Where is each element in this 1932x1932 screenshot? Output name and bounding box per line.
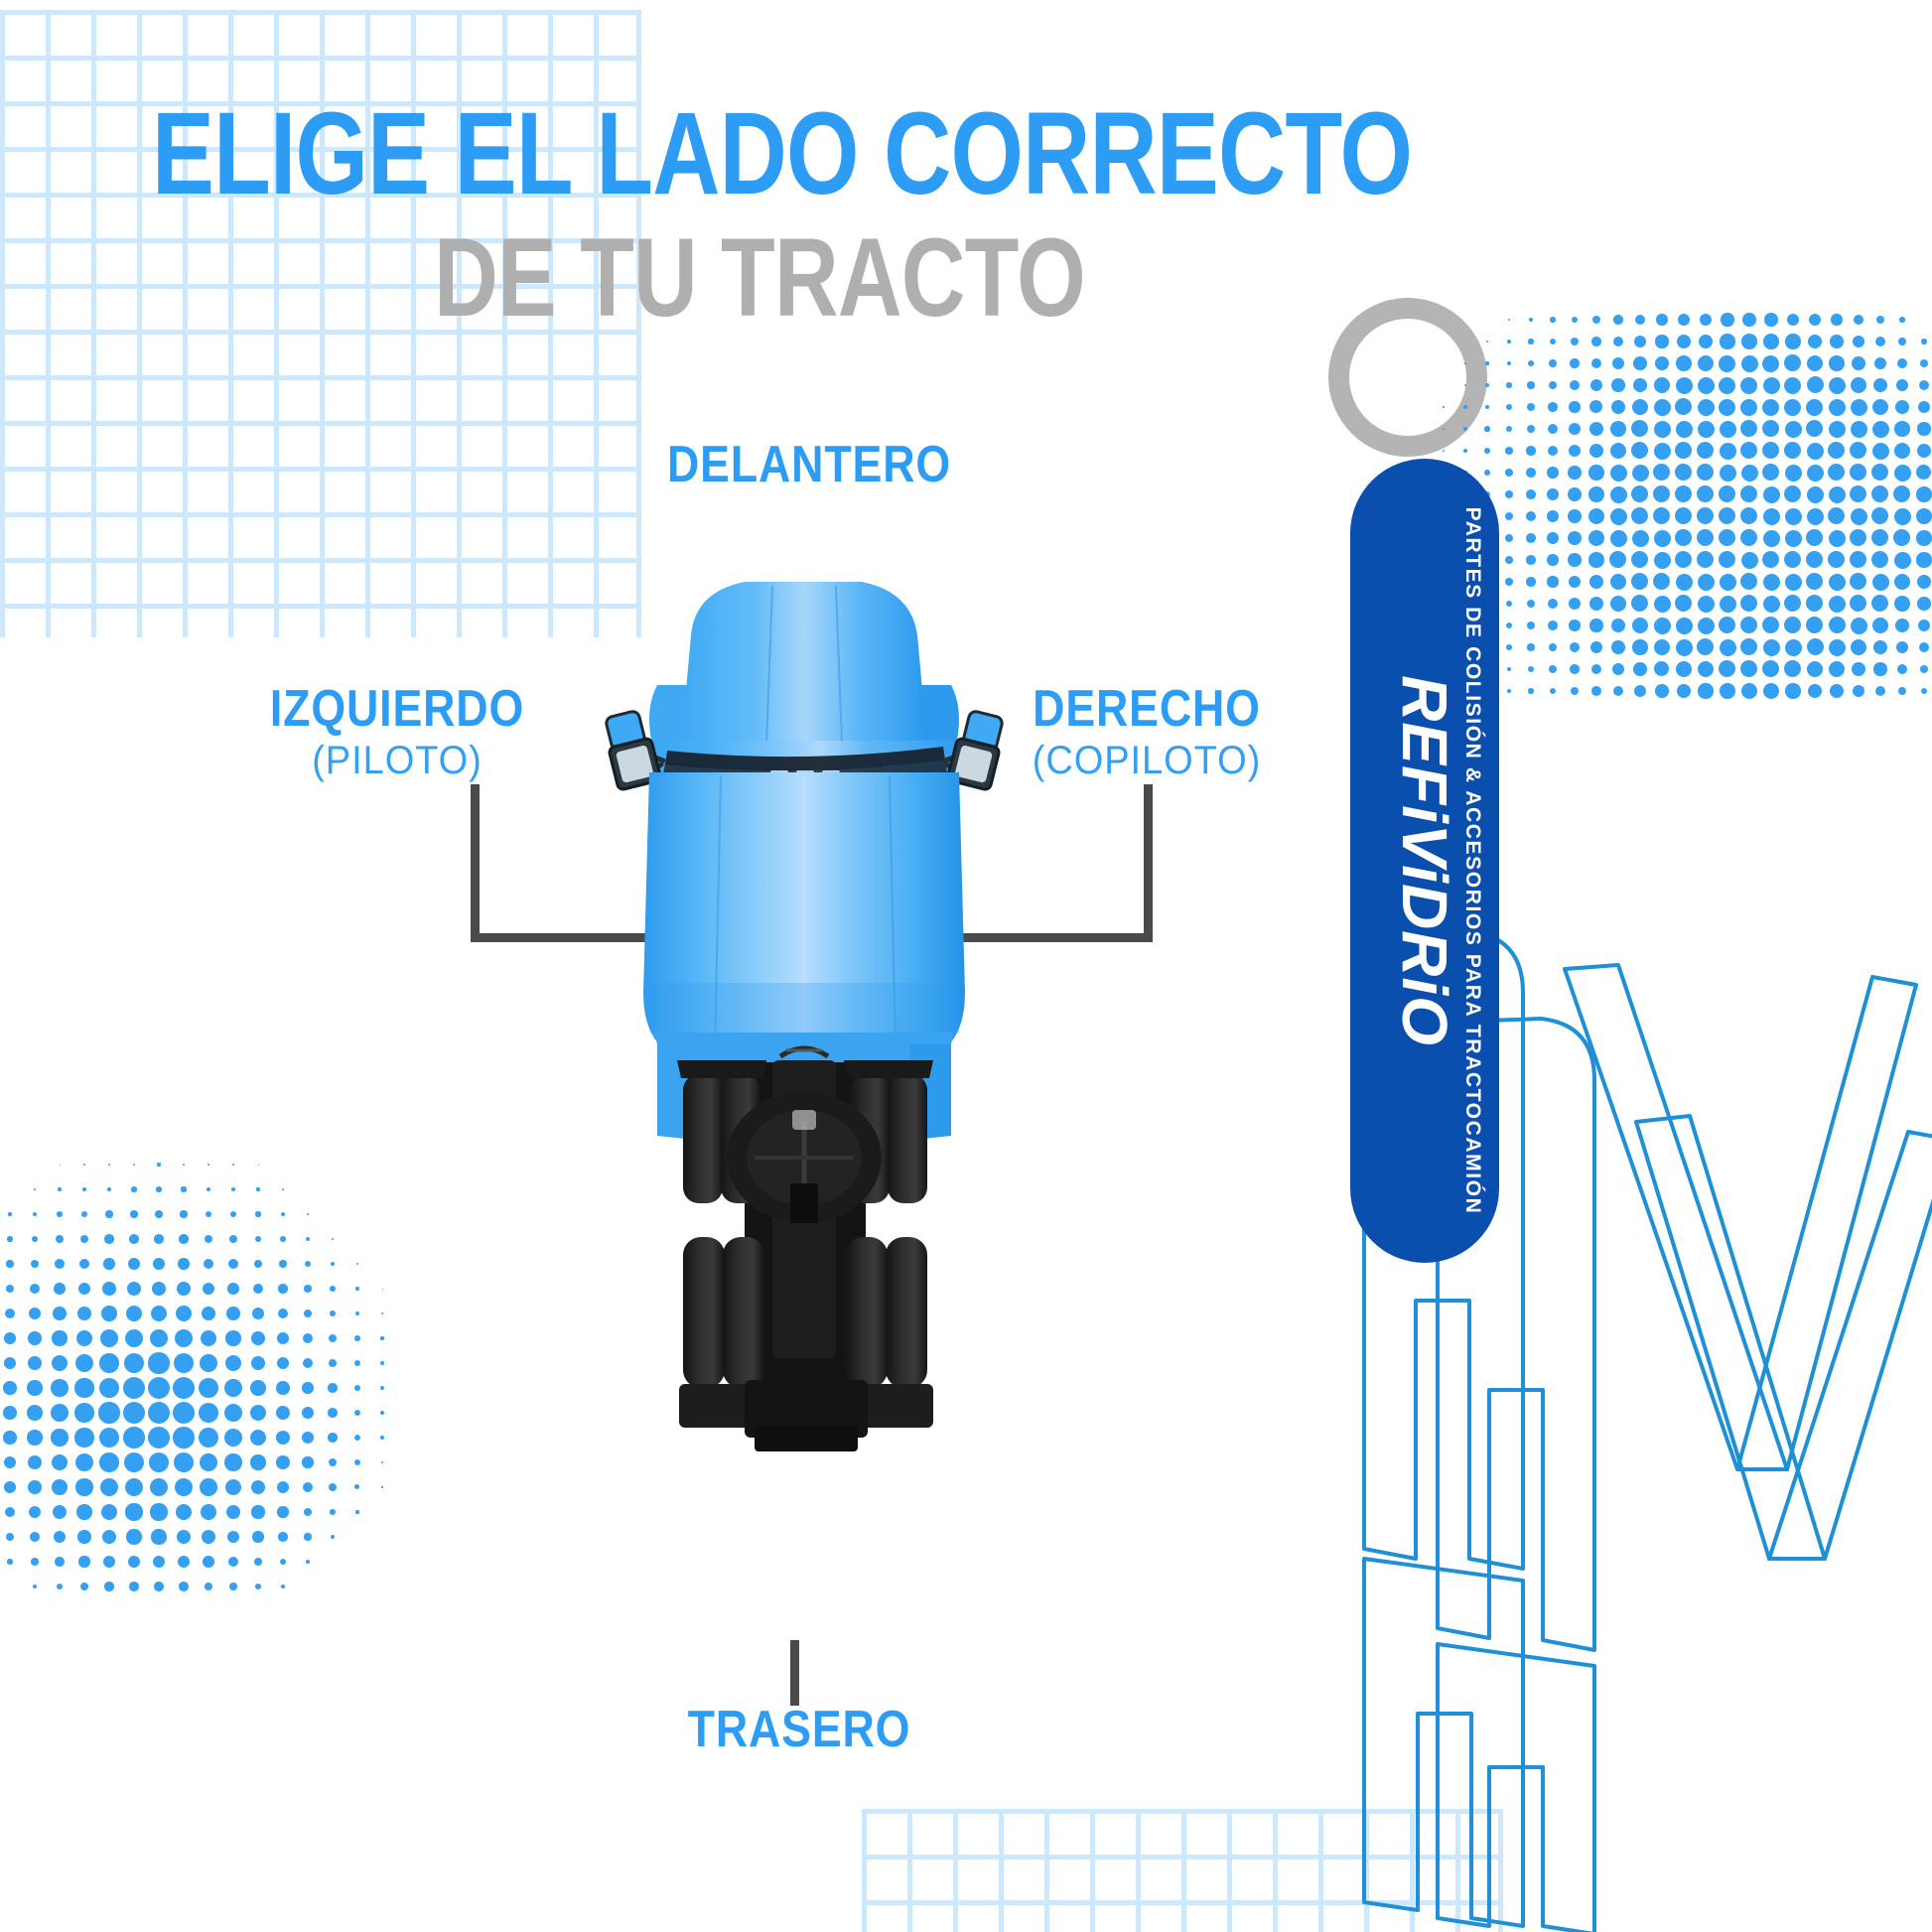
- halftone-dot: [1719, 355, 1735, 372]
- halftone-dot: [1921, 688, 1927, 694]
- halftone-dot: [1655, 356, 1670, 371]
- halftone-dot: [1918, 620, 1930, 631]
- halftone-dot: [34, 1188, 36, 1190]
- halftone-dot: [328, 1408, 337, 1417]
- halftone-dot: [1806, 617, 1823, 633]
- halftone-dot: [1589, 422, 1603, 436]
- halftone-dot: [1572, 317, 1579, 324]
- halftone-dot: [177, 1530, 192, 1545]
- halftone-dot: [51, 1429, 68, 1446]
- halftone-dot: [380, 1386, 384, 1390]
- halftone-dot: [306, 1560, 311, 1565]
- grid-line-horizontal: [0, 56, 641, 61]
- halftone-dot: [104, 1234, 113, 1243]
- halftone-dot: [53, 1505, 67, 1519]
- halftone-dot: [251, 1480, 265, 1494]
- halftone-dot: [207, 1187, 211, 1192]
- halftone-dot: [1526, 511, 1536, 521]
- halftone-dot: [1676, 574, 1693, 591]
- halftone-dot: [1632, 618, 1649, 634]
- halftone-dot: [1872, 574, 1889, 591]
- halftone-dot: [1633, 378, 1648, 393]
- halftone-dot: [1484, 470, 1490, 476]
- halftone-dot: [108, 1164, 111, 1167]
- halftone-dot: [100, 1478, 118, 1496]
- halftone-dot: [126, 1306, 142, 1321]
- halftone-dot: [129, 1582, 139, 1591]
- halftone-dot: [1806, 573, 1823, 590]
- halftone-dot: [1829, 530, 1846, 547]
- halftone-dot: [1505, 469, 1513, 477]
- halftone-dot: [176, 1504, 193, 1521]
- halftone-dot: [1916, 530, 1932, 546]
- halftone-dot: [1894, 596, 1910, 612]
- halftone-dot: [1917, 422, 1930, 435]
- halftone-dot: [1548, 621, 1558, 630]
- halftone-dot: [124, 1353, 145, 1374]
- halftone-dot: [1828, 442, 1845, 459]
- halftone-dot: [1547, 488, 1559, 500]
- halftone-dot: [1507, 689, 1511, 693]
- halftone-dot: [1591, 337, 1600, 345]
- halftone-dot: [1719, 377, 1735, 394]
- halftone-dot: [1850, 464, 1866, 481]
- halftone-dot: [1610, 596, 1626, 612]
- halftone-dot: [1920, 665, 1928, 673]
- halftone-dot: [1609, 551, 1626, 568]
- halftone-dot: [178, 1258, 189, 1269]
- halftone-dot: [1918, 401, 1930, 413]
- halftone-dot: [250, 1405, 266, 1421]
- halftone-dot: [1785, 465, 1802, 482]
- halftone-dot: [1569, 401, 1580, 412]
- halftone-dot: [1850, 551, 1866, 568]
- halftone-dot: [1676, 377, 1693, 394]
- halftone-dot: [254, 1558, 263, 1567]
- halftone-dot: [1588, 552, 1603, 567]
- halftone-dot: [174, 1353, 194, 1373]
- halftone-dot: [1740, 485, 1757, 502]
- halftone-dot: [1592, 316, 1600, 324]
- halftone-dot: [1676, 661, 1692, 677]
- halftone-dot: [1871, 507, 1888, 524]
- halftone-dot: [1632, 399, 1648, 415]
- halftone-dot: [1698, 377, 1715, 394]
- halftone-dot: [80, 1235, 89, 1244]
- halftone-dot: [1631, 420, 1648, 437]
- label-front: DELANTERO: [664, 435, 954, 494]
- halftone-dot: [1547, 510, 1559, 522]
- halftone-dot: [99, 1452, 119, 1472]
- halftone-dot: [1763, 639, 1780, 656]
- halftone-dot: [1653, 507, 1670, 524]
- halftone-dot: [173, 1427, 194, 1448]
- halftone-dot: [1851, 639, 1866, 655]
- halftone-dot: [1894, 552, 1911, 569]
- halftone-dot: [1894, 508, 1911, 525]
- halftone-dot: [1568, 466, 1581, 479]
- grid-line-horizontal: [0, 558, 641, 563]
- halftone-dot: [1675, 485, 1692, 502]
- halftone-dot: [173, 1402, 195, 1424]
- halftone-dot: [1675, 551, 1692, 568]
- halftone-dot: [1871, 485, 1888, 502]
- halftone-dot: [1806, 595, 1823, 612]
- halftone-dot: [332, 1238, 335, 1241]
- halftone-dot: [280, 1236, 286, 1242]
- halftone-dot: [1612, 663, 1624, 675]
- halftone-dot: [1871, 464, 1888, 481]
- halftone-dot: [175, 1478, 194, 1497]
- halftone-dot: [6, 1285, 15, 1294]
- halftone-dot: [151, 1306, 167, 1321]
- halftone-dot: [32, 1236, 39, 1243]
- grid-line-vertical: [953, 1809, 958, 1932]
- halftone-dot: [1505, 534, 1513, 542]
- halftone-dot: [328, 1433, 337, 1442]
- halftone-dot: [1655, 684, 1668, 697]
- halftone-dot: [74, 1428, 93, 1447]
- halftone-dot: [1807, 638, 1824, 655]
- halftone-dot: [1591, 358, 1602, 369]
- halftone-dot: [253, 1284, 264, 1295]
- halftone-dot: [1528, 339, 1533, 344]
- halftone-dot: [183, 1164, 186, 1167]
- halftone-dot: [176, 1306, 192, 1321]
- halftone-dot: [1612, 357, 1624, 369]
- halftone-dot: [154, 1234, 164, 1244]
- halftone-dot: [1762, 399, 1779, 416]
- halftone-dot: [354, 1484, 359, 1489]
- halftone-dot: [151, 1529, 166, 1544]
- halftone-dot: [1785, 574, 1802, 591]
- halftone-dot: [303, 1482, 313, 1492]
- halftone-dot: [1720, 596, 1736, 613]
- halftone-dot: [152, 1282, 166, 1296]
- halftone-dot: [1443, 450, 1445, 452]
- halftone-dot: [1611, 619, 1626, 633]
- halftone-dot: [224, 1404, 242, 1422]
- halftone-dot: [1526, 468, 1536, 478]
- halftone-dot: [101, 1504, 118, 1521]
- halftone-dot: [1591, 664, 1602, 675]
- halftone-dot: [1899, 317, 1905, 323]
- halftone-dot: [6, 1260, 13, 1267]
- halftone-dot: [1568, 553, 1581, 566]
- halftone-dot: [77, 1530, 91, 1544]
- halftone-dot: [1741, 465, 1758, 482]
- halftone-dot: [1872, 421, 1889, 438]
- halftone-dot: [28, 1480, 42, 1494]
- halftone-dot: [1547, 467, 1558, 478]
- halftone-dot: [201, 1504, 216, 1520]
- halftone-dot: [355, 1287, 359, 1291]
- halftone-dot: [1485, 361, 1488, 364]
- halftone-dot: [1631, 507, 1648, 524]
- halftone-dot: [1806, 399, 1823, 416]
- halftone-dot: [5, 1507, 15, 1517]
- halftone-dot: [330, 1286, 336, 1292]
- halftone-dot: [354, 1410, 361, 1417]
- halftone-dot: [175, 1329, 193, 1347]
- halftone-dot: [99, 1353, 119, 1373]
- halftone-dot: [1631, 595, 1648, 612]
- halftone-dot: [355, 1510, 358, 1513]
- halftone-dot: [1656, 314, 1667, 325]
- halftone-dot: [1719, 399, 1735, 416]
- halftone-dot: [255, 1584, 261, 1589]
- halftone-dot: [1785, 421, 1802, 438]
- halftone-dot: [305, 1261, 311, 1267]
- halftone-dot: [1610, 508, 1627, 525]
- halftone-dot: [1484, 448, 1490, 454]
- halftone-dot: [278, 1532, 287, 1541]
- halftone-dot: [258, 1165, 259, 1166]
- halftone-dot: [1809, 314, 1821, 326]
- halftone-dot: [1570, 642, 1581, 653]
- halftone-dot: [1464, 362, 1465, 363]
- halftone-dot: [381, 1312, 383, 1314]
- halftone-dot: [1784, 551, 1801, 568]
- halftone-dot: [302, 1407, 314, 1419]
- halftone-dot: [203, 1556, 214, 1568]
- halftone-dot: [1632, 465, 1649, 482]
- halftone-dot: [1872, 618, 1888, 633]
- halftone-dot: [5, 1309, 15, 1318]
- halftone-dot: [1632, 530, 1649, 547]
- halftone-dot: [1741, 552, 1758, 569]
- halftone-dot: [1698, 661, 1715, 678]
- halftone-dot: [1484, 426, 1489, 431]
- halftone-dot: [125, 1478, 144, 1497]
- halftone-dot: [1720, 683, 1735, 699]
- halftone-dot: [1611, 378, 1624, 391]
- halftone-dot: [1700, 314, 1713, 327]
- halftone-dot: [1784, 595, 1801, 612]
- halftone-dot: [1633, 662, 1647, 676]
- halftone-dot: [79, 1259, 90, 1270]
- halftone-dot: [1740, 420, 1757, 437]
- halftone-dot: [228, 1259, 238, 1269]
- halftone-dot: [250, 1454, 265, 1469]
- halftone-dot: [1875, 686, 1886, 697]
- halftone-dot: [1610, 465, 1627, 482]
- halftone-dot: [1785, 508, 1802, 525]
- halftone-dot: [1893, 529, 1910, 546]
- halftone-dot: [124, 1452, 144, 1472]
- halftone-dot: [53, 1307, 67, 1320]
- halftone-dot: [55, 1259, 65, 1269]
- halftone-dot: [178, 1556, 190, 1568]
- halftone-dot: [279, 1260, 286, 1267]
- page-title: ELIGE EL LADO CORRECTO: [152, 95, 1367, 212]
- halftone-dot: [33, 1585, 37, 1588]
- halftone-dot: [148, 1402, 170, 1424]
- halftone-dot: [1505, 556, 1513, 564]
- halftone-dot: [1527, 621, 1535, 629]
- halftone-dot: [1570, 380, 1580, 390]
- grid-line-horizontal: [0, 467, 641, 472]
- halftone-dot: [1829, 596, 1846, 613]
- halftone-dot: [1588, 508, 1604, 524]
- halftone-dot: [1828, 464, 1845, 481]
- halftone-dot: [75, 1354, 93, 1372]
- halftone-dot: [1632, 639, 1647, 654]
- halftone-dot: [1675, 529, 1692, 546]
- bracket-left-stem: [471, 784, 480, 941]
- halftone-dot: [1829, 355, 1845, 371]
- halftone-dot: [1569, 423, 1581, 435]
- halftone-dot: [4, 1481, 16, 1493]
- halftone-dot: [1720, 421, 1736, 438]
- halftone-dot: [1613, 337, 1624, 347]
- halftone-dot: [1610, 421, 1626, 437]
- halftone-dot: [107, 1187, 112, 1192]
- halftone-dot: [1675, 398, 1692, 415]
- grid-line-horizontal: [0, 604, 641, 609]
- halftone-dot: [1610, 530, 1627, 547]
- halftone-dot: [205, 1235, 213, 1244]
- halftone-dot: [1526, 489, 1536, 499]
- grid-line-vertical: [1273, 1809, 1278, 1932]
- halftone-dot: [150, 1329, 169, 1348]
- halftone-dot: [1631, 573, 1648, 590]
- halftone-dot: [1505, 490, 1513, 498]
- halftone-dot: [1762, 355, 1779, 372]
- halftone-dot: [1852, 356, 1865, 370]
- halftone-dot: [329, 1334, 337, 1342]
- halftone-dot: [105, 1210, 112, 1217]
- halftone-dot: [1610, 443, 1627, 460]
- halftone-dot: [1653, 573, 1670, 590]
- halftone-dot: [1874, 357, 1887, 370]
- halftone-dot: [1763, 334, 1778, 348]
- halftone-dot: [226, 1505, 241, 1520]
- halftone-dot: [304, 1533, 311, 1540]
- halftone-dot: [1719, 507, 1735, 524]
- halftone-dot: [1506, 404, 1512, 410]
- halftone-dot: [179, 1234, 188, 1243]
- halftone-dot: [1763, 683, 1779, 699]
- halftone-dot: [1719, 529, 1735, 546]
- halftone-dot: [1654, 377, 1670, 393]
- halftone-dot: [1697, 551, 1714, 568]
- halftone-dot: [1829, 617, 1846, 633]
- halftone-dot: [1784, 354, 1801, 371]
- halftone-dot: [1762, 551, 1779, 568]
- halftone-dot: [123, 1377, 145, 1399]
- halftone-dot: [1548, 402, 1558, 412]
- halftone-dot: [1921, 339, 1926, 344]
- halftone-dot: [27, 1380, 42, 1395]
- halftone-dot: [99, 1378, 120, 1399]
- halftone-dot: [4, 1456, 17, 1469]
- halftone-dot: [1588, 486, 1604, 502]
- halftone-dot: [1569, 620, 1580, 630]
- halftone-dot: [1873, 378, 1888, 393]
- brand-logo-badge[interactable]: REFiViDRiO PARTES DE COLISIÓN & ACCESORI…: [1350, 459, 1499, 1263]
- halftone-dot: [252, 1531, 263, 1542]
- halftone-dot: [1588, 465, 1603, 480]
- halftone-dot: [229, 1235, 237, 1243]
- halftone-dot: [202, 1530, 215, 1544]
- halftone-dot: [229, 1583, 237, 1590]
- halftone-dot: [1830, 684, 1844, 698]
- halftone-dot: [75, 1453, 93, 1471]
- halftone-dot: [1719, 617, 1735, 633]
- halftone-dot: [154, 1582, 164, 1591]
- halftone-dot: [1740, 660, 1757, 677]
- halftone-dot: [1699, 335, 1714, 349]
- halftone-dot: [1807, 443, 1824, 460]
- halftone-dot: [1698, 618, 1715, 634]
- halftone-dot: [1549, 665, 1557, 673]
- halftone-dot: [1675, 595, 1692, 612]
- halftone-dot: [1871, 551, 1888, 568]
- halftone-dot: [150, 1478, 169, 1497]
- halftone-dot: [251, 1331, 265, 1345]
- halftone-dot: [102, 1282, 116, 1296]
- halftone-dot: [1654, 530, 1671, 547]
- halftone-dot: [1850, 573, 1866, 590]
- halftone-dot: [1894, 443, 1911, 460]
- halftone-dot: [1850, 529, 1866, 546]
- halftone-dot: [354, 1459, 360, 1465]
- halftone-dot: [1807, 508, 1824, 525]
- halftone-dot: [1920, 359, 1928, 367]
- halftone-dot: [78, 1556, 89, 1567]
- halftone-dot: [56, 1235, 64, 1243]
- halftone-dot: [1808, 335, 1823, 349]
- halftone-dot: [1720, 334, 1734, 348]
- halftone-dot: [1720, 574, 1736, 591]
- halftone-dot: [1528, 360, 1534, 366]
- halftone-dot: [256, 1187, 259, 1190]
- halftone-dot: [1464, 384, 1466, 386]
- halftone-dot: [33, 1212, 38, 1217]
- halftone-dot: [1784, 442, 1801, 459]
- halftone-dot: [225, 1355, 242, 1372]
- halftone-dot: [1852, 662, 1866, 677]
- halftone-dot: [1740, 573, 1757, 590]
- halftone-dot: [199, 1428, 218, 1448]
- halftone-dot: [31, 1558, 39, 1566]
- halftone-dot: [380, 1411, 384, 1415]
- halftone-dot: [180, 1210, 187, 1217]
- halftone-dot: [1677, 684, 1691, 698]
- halftone-dot: [329, 1458, 338, 1467]
- halftone-dot: [1589, 619, 1602, 631]
- halftone-dot: [81, 1211, 88, 1218]
- halftone-dot: [304, 1508, 313, 1517]
- halftone-dot: [276, 1455, 289, 1468]
- halftone-dot: [1653, 464, 1670, 481]
- halftone-dot: [57, 1584, 63, 1589]
- halftone-dot: [1919, 642, 1929, 652]
- halftone-dot: [276, 1406, 290, 1420]
- halftone-dot: [1741, 355, 1758, 372]
- halftone-dot: [1505, 512, 1513, 520]
- halftone-dot: [101, 1306, 117, 1321]
- halftone-dot: [1742, 313, 1755, 326]
- halftone-dot: [380, 1336, 383, 1339]
- halftone-dot: [225, 1330, 240, 1345]
- halftone-dot: [302, 1432, 314, 1444]
- halftone-dot: [1916, 552, 1931, 567]
- halftone-dot: [1631, 551, 1648, 568]
- halftone-dot: [153, 1556, 166, 1569]
- halftone-dot: [1529, 318, 1533, 322]
